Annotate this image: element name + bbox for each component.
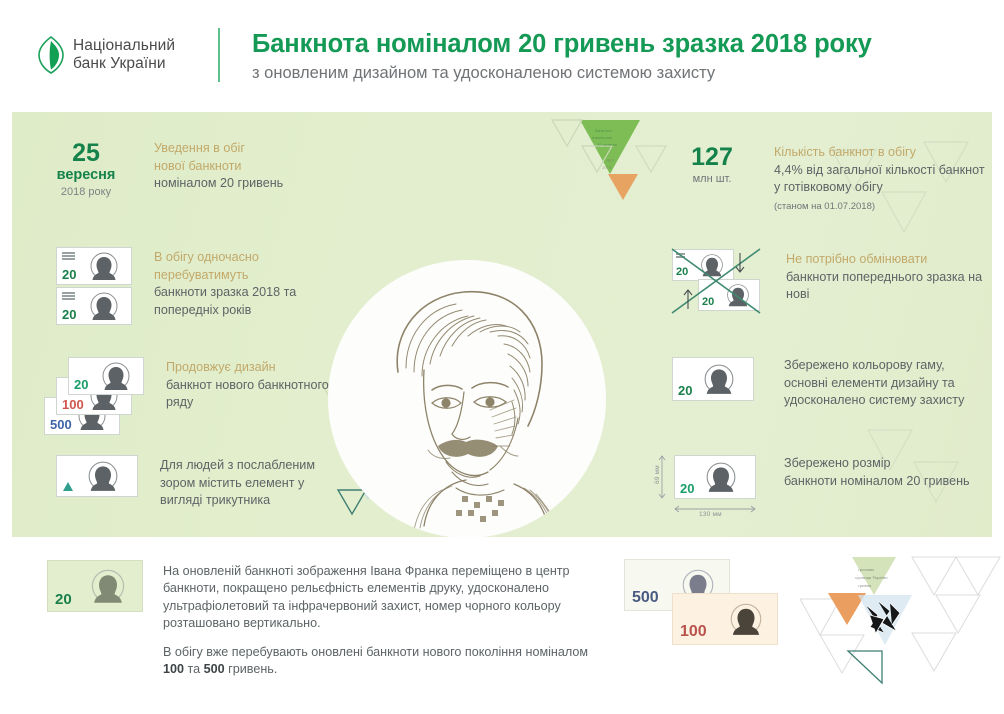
denomination: 20 — [55, 591, 72, 608]
nbu-shield-icon — [38, 36, 64, 74]
no-exchange-lead: Не потрібно обмінювати — [786, 251, 992, 269]
issue-lead-1: Уведення в обіг — [154, 140, 283, 158]
title-block: Банкнота номіналом 20 гривень зразка 201… — [252, 27, 872, 84]
both-series-lead-1: В обігу одночасно — [154, 249, 340, 267]
main-panel: банкнотаноміналом 20 гривень НБУ2018 — [12, 112, 992, 537]
block-continues-design-text: Продовжує дизайн банкнот нового банкнотн… — [132, 357, 340, 433]
block-size-text: Збережено розмір банкноти номіналом 20 г… — [764, 455, 970, 525]
block-low-vision: Для людей з послабленим зором містить ел… — [40, 455, 340, 510]
colors-lead: Збережено кольорову гаму, — [784, 357, 992, 375]
circulation-body: 4,4% від загальної кількості банкнот у г… — [774, 162, 992, 197]
count-badge: 127 млн шт. — [672, 144, 752, 214]
svg-text:грошова: грошова — [858, 567, 874, 572]
svg-text:номіналом: номіналом — [592, 135, 612, 140]
p2-bold-100: 100 — [163, 662, 184, 676]
portrait-silhouette-icon — [703, 363, 735, 395]
portrait-drawing — [328, 260, 606, 537]
issue-month: вересня — [40, 166, 132, 184]
denomination: 100 — [62, 398, 84, 412]
block-both-series: 20 20 В обігу одночасно пе — [40, 247, 340, 325]
svg-text:20 гривень: 20 гривень — [597, 142, 617, 147]
banknote-20: 20 — [68, 357, 144, 395]
logo-line-1: Національний — [73, 37, 175, 55]
size-body: банкноти номіналом 20 гривень — [784, 473, 970, 491]
circulation-note: (станом на 01.07.2018) — [774, 199, 992, 214]
infographic-page: Національний банк України Банкнота номін… — [0, 0, 1004, 714]
denomination: 100 — [680, 623, 707, 641]
svg-text:банкнота: банкнота — [595, 128, 613, 133]
bottom-section: 20 На оновленій банкноті зображення Іван… — [0, 545, 1004, 714]
denomination: 20 — [74, 378, 88, 392]
banknotes-100-500-icon: 500 100 — [624, 559, 794, 645]
banknote-20: 20 — [672, 357, 754, 401]
both-series-body: банкноти зразка 2018 та попередніх років — [154, 284, 340, 319]
denomination: 20 — [678, 384, 692, 398]
portrait-silhouette-icon — [87, 460, 119, 492]
block-size-preserved: 20 69 мм 130 мм Збережено розмір ба — [652, 455, 992, 525]
two-banknotes-icon: 20 20 — [40, 247, 132, 325]
continues-body: банкнот нового банкнотного ряду — [166, 377, 340, 412]
circulation-unit: млн шт. — [672, 172, 752, 186]
block-circulation-text: Кількість банкнот в обігу 4,4% від загал… — [752, 144, 992, 214]
banknote-20-icon: 20 — [47, 560, 143, 612]
low-vision-body: зором містить елемент у вигляді трикутни… — [160, 475, 340, 510]
deco-triangles-top: банкнотаноміналом 20 гривень НБУ2018 — [540, 112, 690, 232]
banknote-icon: 20 — [672, 357, 764, 405]
page-title: Банкнота номіналом 20 гривень зразка 201… — [252, 29, 872, 59]
issue-day: 25 — [40, 140, 132, 166]
deco-triangles-footer: грошоваодиниця Українигривня — [800, 553, 1004, 713]
bottom-description: На оновленій банкноті зображення Івана Ф… — [163, 563, 603, 689]
denomination: 500 — [632, 589, 659, 607]
colors-body: основні елементи дизайну та удосконалено… — [784, 375, 992, 410]
size-lead: Збережено розмір — [784, 455, 970, 473]
denomination: 500 — [50, 418, 72, 432]
block-low-vision-text: Для людей з послабленим зором містить ел… — [132, 455, 340, 510]
no-exchange-body: банкноти попереднього зразка на нові — [786, 269, 992, 304]
block-issue-date-text: Уведення в обіг нової банкноти номіналом… — [132, 140, 283, 200]
circulation-number: 127 — [672, 144, 752, 170]
issue-body: номіналом 20 гривень — [154, 175, 283, 193]
header: Національний банк України Банкнота номін… — [0, 0, 1004, 110]
p2-part1: В обігу вже перебувають оновлені банкнот… — [163, 645, 588, 659]
bottom-paragraph-2: В обігу вже перебувають оновлені банкнот… — [163, 644, 603, 679]
header-divider — [218, 28, 220, 82]
crossed-out-exchange-icon: 20 20 — [672, 249, 766, 315]
portrait-silhouette-icon — [90, 568, 126, 604]
block-colors-text: Збережено кольорову гаму, основні елемен… — [764, 357, 992, 410]
portrait-silhouette-icon — [101, 361, 131, 391]
portrait-ivan-franko — [328, 260, 606, 537]
p2-mid: та — [184, 662, 204, 676]
svg-text:2018: 2018 — [602, 165, 612, 170]
p2-part2: гривень. — [225, 662, 278, 676]
banknote-with-triangle-icon — [40, 455, 132, 499]
issue-lead-2: нової банкноти — [154, 158, 283, 176]
banknote-20-old: 20 — [56, 287, 132, 325]
nbu-logo: Національний банк України — [38, 36, 206, 74]
svg-text:одиниця України: одиниця України — [855, 575, 888, 580]
both-series-lead-2: перебуватимуть — [154, 267, 340, 285]
block-issue-date: 25 вересня 2018 року Уведення в обіг нов… — [40, 140, 330, 200]
block-circulation-count: 127 млн шт. Кількість банкнот в обігу 4,… — [672, 144, 992, 214]
svg-text:НБУ: НБУ — [606, 158, 616, 163]
dimension-width-label: 130 мм — [699, 511, 722, 518]
bottom-paragraph-1: На оновленій банкноті зображення Івана Ф… — [163, 563, 603, 633]
banknote-with-dimensions-icon: 20 69 мм 130 мм — [652, 455, 764, 525]
portrait-silhouette-icon — [89, 251, 119, 281]
portrait-silhouette-icon — [729, 602, 763, 636]
circulation-lead: Кількість банкнот в обігу — [774, 144, 992, 162]
denomination: 20 — [62, 308, 76, 322]
low-vision-lead: Для людей з послабленим — [160, 457, 340, 475]
block-no-exchange-text: Не потрібно обмінювати банкноти попередн… — [766, 249, 992, 315]
date-badge: 25 вересня 2018 року — [40, 140, 132, 200]
continues-lead: Продовжує дизайн — [166, 359, 340, 377]
block-both-series-text: В обігу одночасно перебуватимуть банкнот… — [132, 247, 340, 325]
issue-year: 2018 року — [40, 185, 132, 200]
page-subtitle: з оновленим дизайном та удосконаленою си… — [252, 62, 872, 84]
banknote-20-new: 20 — [56, 247, 132, 285]
stacked-banknotes-icon: 20 100 500 — [40, 357, 132, 433]
p2-bold-500: 500 — [204, 662, 225, 676]
dimension-height-label: 69 мм — [654, 465, 661, 484]
microtext-lines — [62, 292, 75, 301]
portrait-silhouette-icon — [89, 291, 119, 321]
microtext-lines — [62, 252, 75, 261]
banknote-100-icon: 100 — [672, 593, 778, 645]
nbu-logo-text: Національний банк України — [73, 37, 175, 73]
svg-text:гривня: гривня — [858, 583, 871, 588]
block-colors-preserved: 20 Збережено кольорову гаму, основні еле… — [672, 357, 992, 410]
triangle-icon — [63, 482, 73, 491]
banknote-triangle — [56, 455, 138, 497]
block-continues-design: 20 100 500 — [40, 357, 340, 433]
cross-out-icon — [668, 245, 768, 319]
denomination: 20 — [62, 268, 76, 282]
block-no-exchange: 20 20 — [672, 249, 992, 315]
logo-line-2: банк України — [73, 55, 175, 73]
